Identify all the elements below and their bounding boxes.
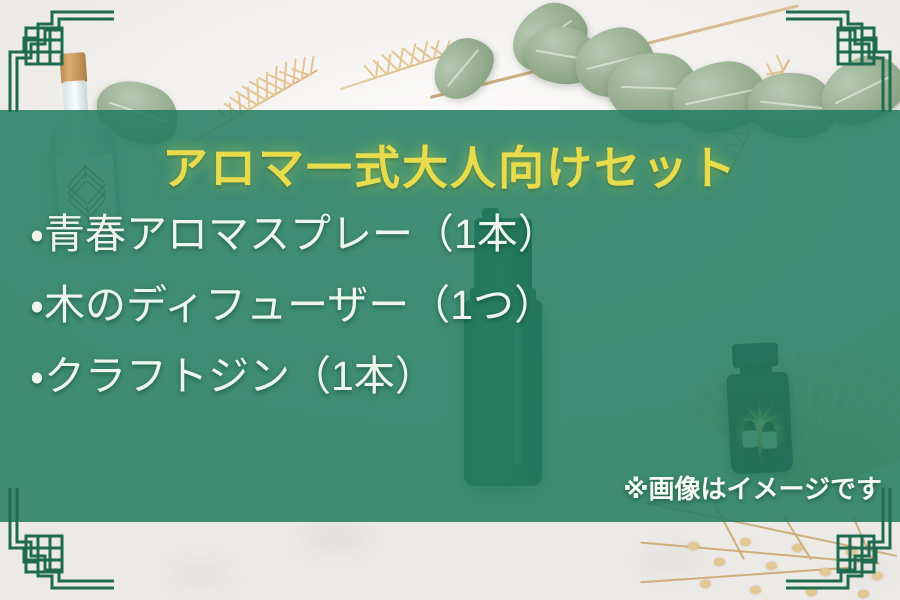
poster-content: アロマ一式大人向けセット ・青春アロマスプレー（1本） ・木のディフューザー（1… (0, 110, 900, 522)
corner-ornament-top-left (8, 6, 116, 114)
corner-ornament-top-right (784, 6, 892, 114)
list-item: ・青春アロマスプレー（1本） (30, 214, 559, 255)
list-item: ・木のディフューザー（1つ） (30, 285, 559, 326)
page-title: アロマ一式大人向けセット (0, 132, 900, 198)
shadow-blob (300, 520, 370, 554)
promo-poster: アロマ一式大人向けセット ・青春アロマスプレー（1本） ・木のディフューザー（1… (0, 0, 900, 600)
product-list: ・青春アロマスプレー（1本） ・木のディフューザー（1つ） ・クラフトジン（1本… (30, 214, 559, 427)
shadow-blob (170, 560, 230, 588)
corner-ornament-bottom-left (8, 486, 116, 594)
list-item: ・クラフトジン（1本） (30, 356, 559, 397)
corner-ornament-bottom-right (784, 486, 892, 594)
